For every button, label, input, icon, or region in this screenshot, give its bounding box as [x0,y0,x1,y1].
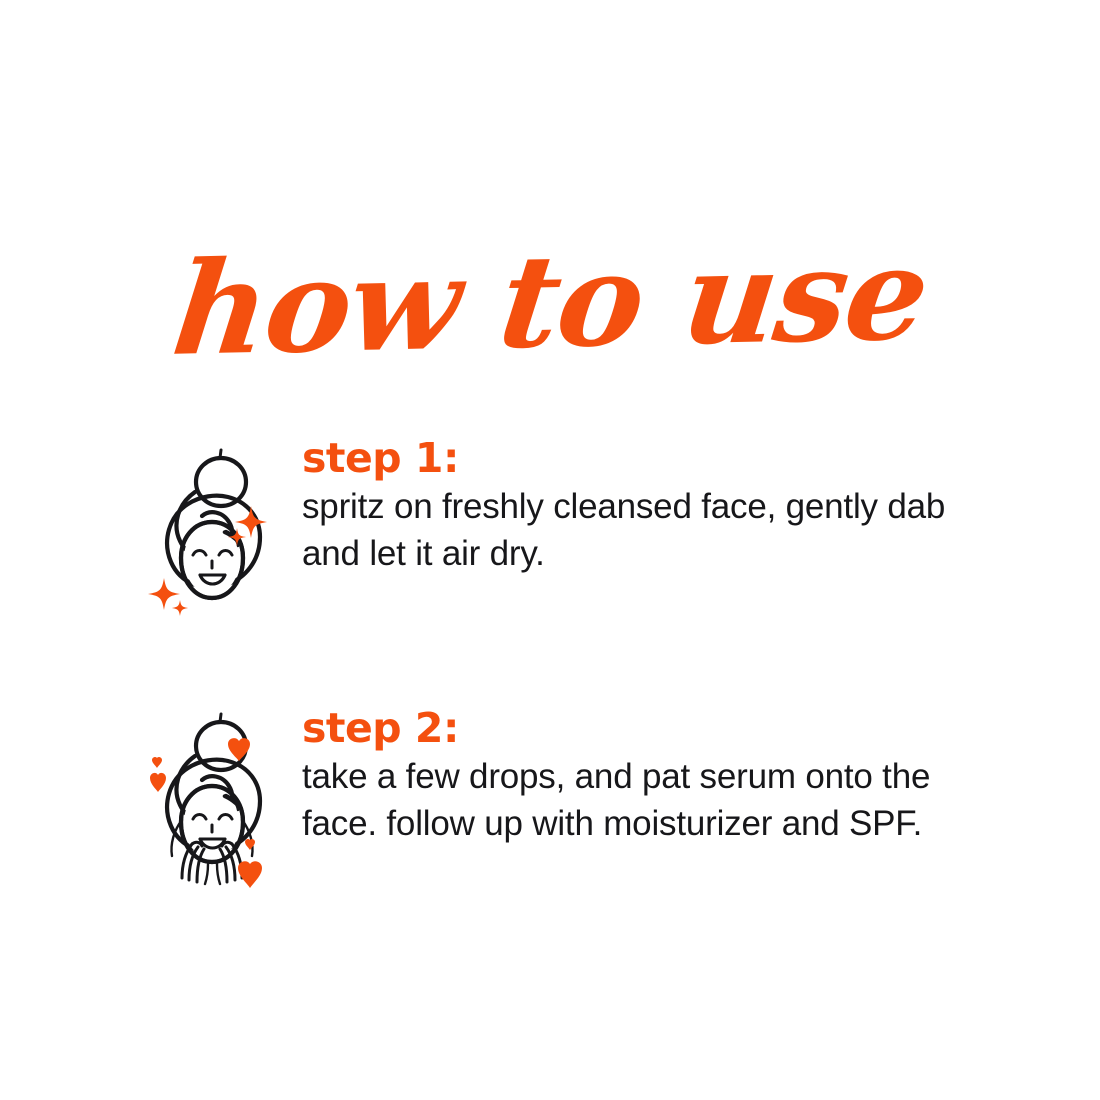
sparkle-icon [172,600,188,616]
step-2-text: take a few drops, and pat serum onto the… [302,754,982,847]
heart-icon [152,757,162,768]
sparkle-icon [235,506,267,538]
step-2-label: step 2: [302,706,982,750]
step-2-illustration [142,714,282,904]
heart-icon [238,861,262,888]
page-title: how to use [167,230,933,374]
step-1-illustration [142,444,282,634]
step-item-2: step 2: take a few drops, and pat serum … [0,706,1100,904]
how-to-use-card: how to use [0,0,1100,1100]
face-hair-bun-sparkles-icon [142,444,282,634]
heart-icon [228,738,250,761]
heart-icon [150,773,166,792]
page-title-wrap: how to use [0,238,1100,366]
step-1-label: step 1: [302,436,982,480]
step-item-1: step 1: spritz on freshly cleansed face,… [0,436,1100,634]
step-2-body: step 2: take a few drops, and pat serum … [282,706,982,847]
step-1-text: spritz on freshly cleansed face, gently … [302,484,982,577]
sparkle-icon [148,578,180,610]
face-hair-bun-hands-hearts-icon [142,714,282,904]
step-1-body: step 1: spritz on freshly cleansed face,… [282,436,982,577]
steps-list: step 1: spritz on freshly cleansed face,… [0,436,1100,904]
